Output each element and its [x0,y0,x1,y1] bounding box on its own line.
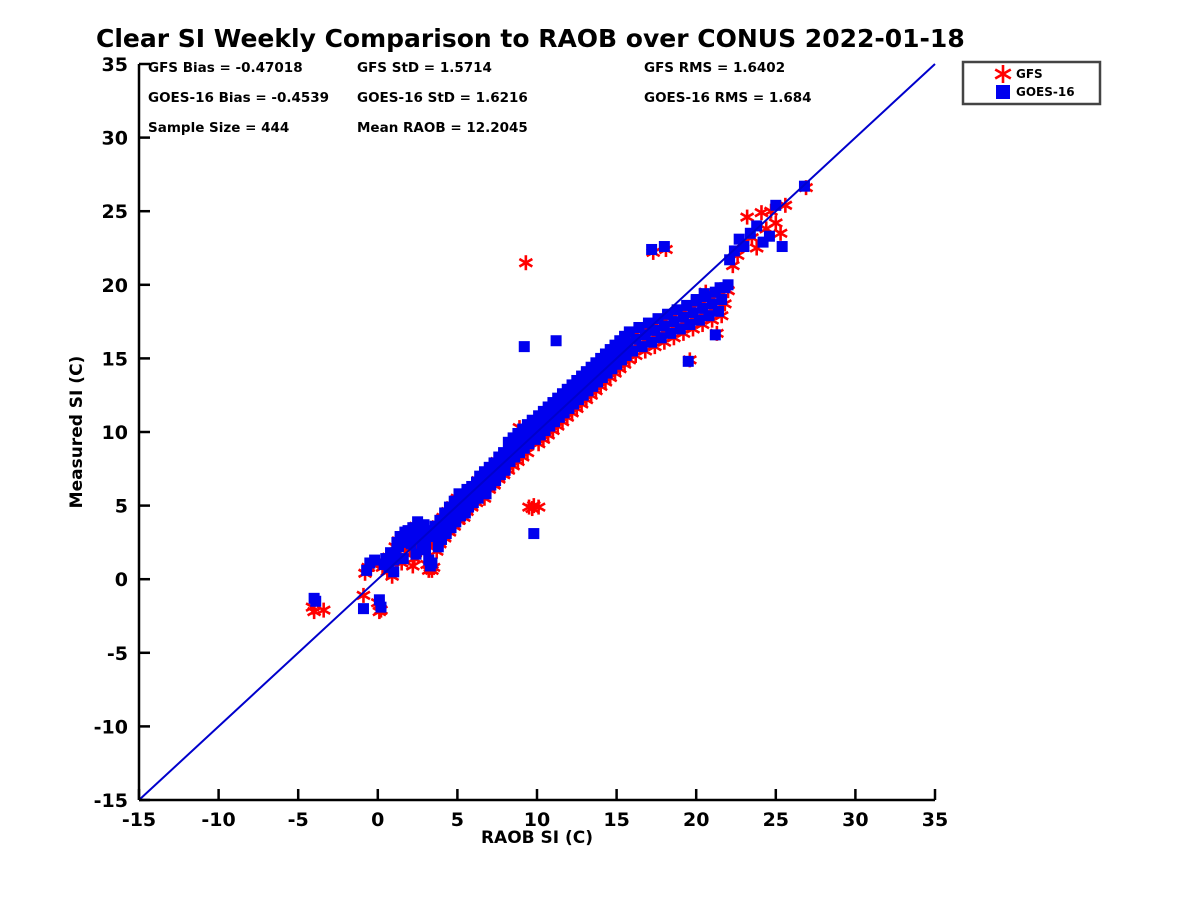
x-tick-label: 30 [842,809,868,831]
stat-gfs-bias: GFS Bias = -0.47018 [148,60,303,76]
y-tick-label: -10 [94,716,128,738]
x-tick-label: 0 [371,809,384,831]
stat-goes16-rms: GOES-16 RMS = 1.684 [644,90,812,106]
stat-gfs-std: GFS StD = 1.5714 [357,60,492,76]
y-tick-label: 35 [102,54,128,76]
x-tick-label: -15 [122,809,156,831]
y-tick-label: 20 [102,275,128,297]
x-tick-label: -10 [201,809,235,831]
stat-mean-raob: Mean RAOB = 12.2045 [357,120,528,136]
stat-goes16-bias: GOES-16 Bias = -0.4539 [148,90,329,106]
y-tick-label: 0 [115,569,128,591]
stat-goes16-std: GOES-16 StD = 1.6216 [357,90,528,106]
y-tick-label: 30 [102,128,128,150]
legend-marker-goes16-square-icon [996,85,1010,99]
x-tick-label: 25 [763,809,789,831]
stat-sample-size: Sample Size = 444 [148,120,289,136]
x-tick-label: 15 [603,809,629,831]
y-axis-label: Measured SI (C) [67,356,87,509]
y-tick-label: 5 [115,496,128,518]
x-tick-label: 35 [922,809,948,831]
scatter-plot: Clear SI Weekly Comparison to RAOB over … [0,0,1200,900]
y-tick-label: 15 [102,348,128,370]
x-tick-label: 20 [683,809,709,831]
y-tick-label: -5 [107,643,128,665]
y-tick-label: 10 [102,422,128,444]
x-tick-label: 5 [451,809,464,831]
legend[interactable]: GFS GOES-16 [963,62,1100,104]
chart-canvas: Clear SI Weekly Comparison to RAOB over … [0,0,1200,900]
legend-label-goes16: GOES-16 [1016,85,1075,99]
stat-gfs-rms: GFS RMS = 1.6402 [644,60,785,76]
y-tick-label: 25 [102,201,128,223]
x-axis-label: RAOB SI (C) [481,828,593,848]
y-tick-label: -15 [94,790,128,812]
x-tick-label: -5 [288,809,309,831]
legend-label-gfs: GFS [1016,67,1043,81]
chart-title: Clear SI Weekly Comparison to RAOB over … [96,24,965,53]
